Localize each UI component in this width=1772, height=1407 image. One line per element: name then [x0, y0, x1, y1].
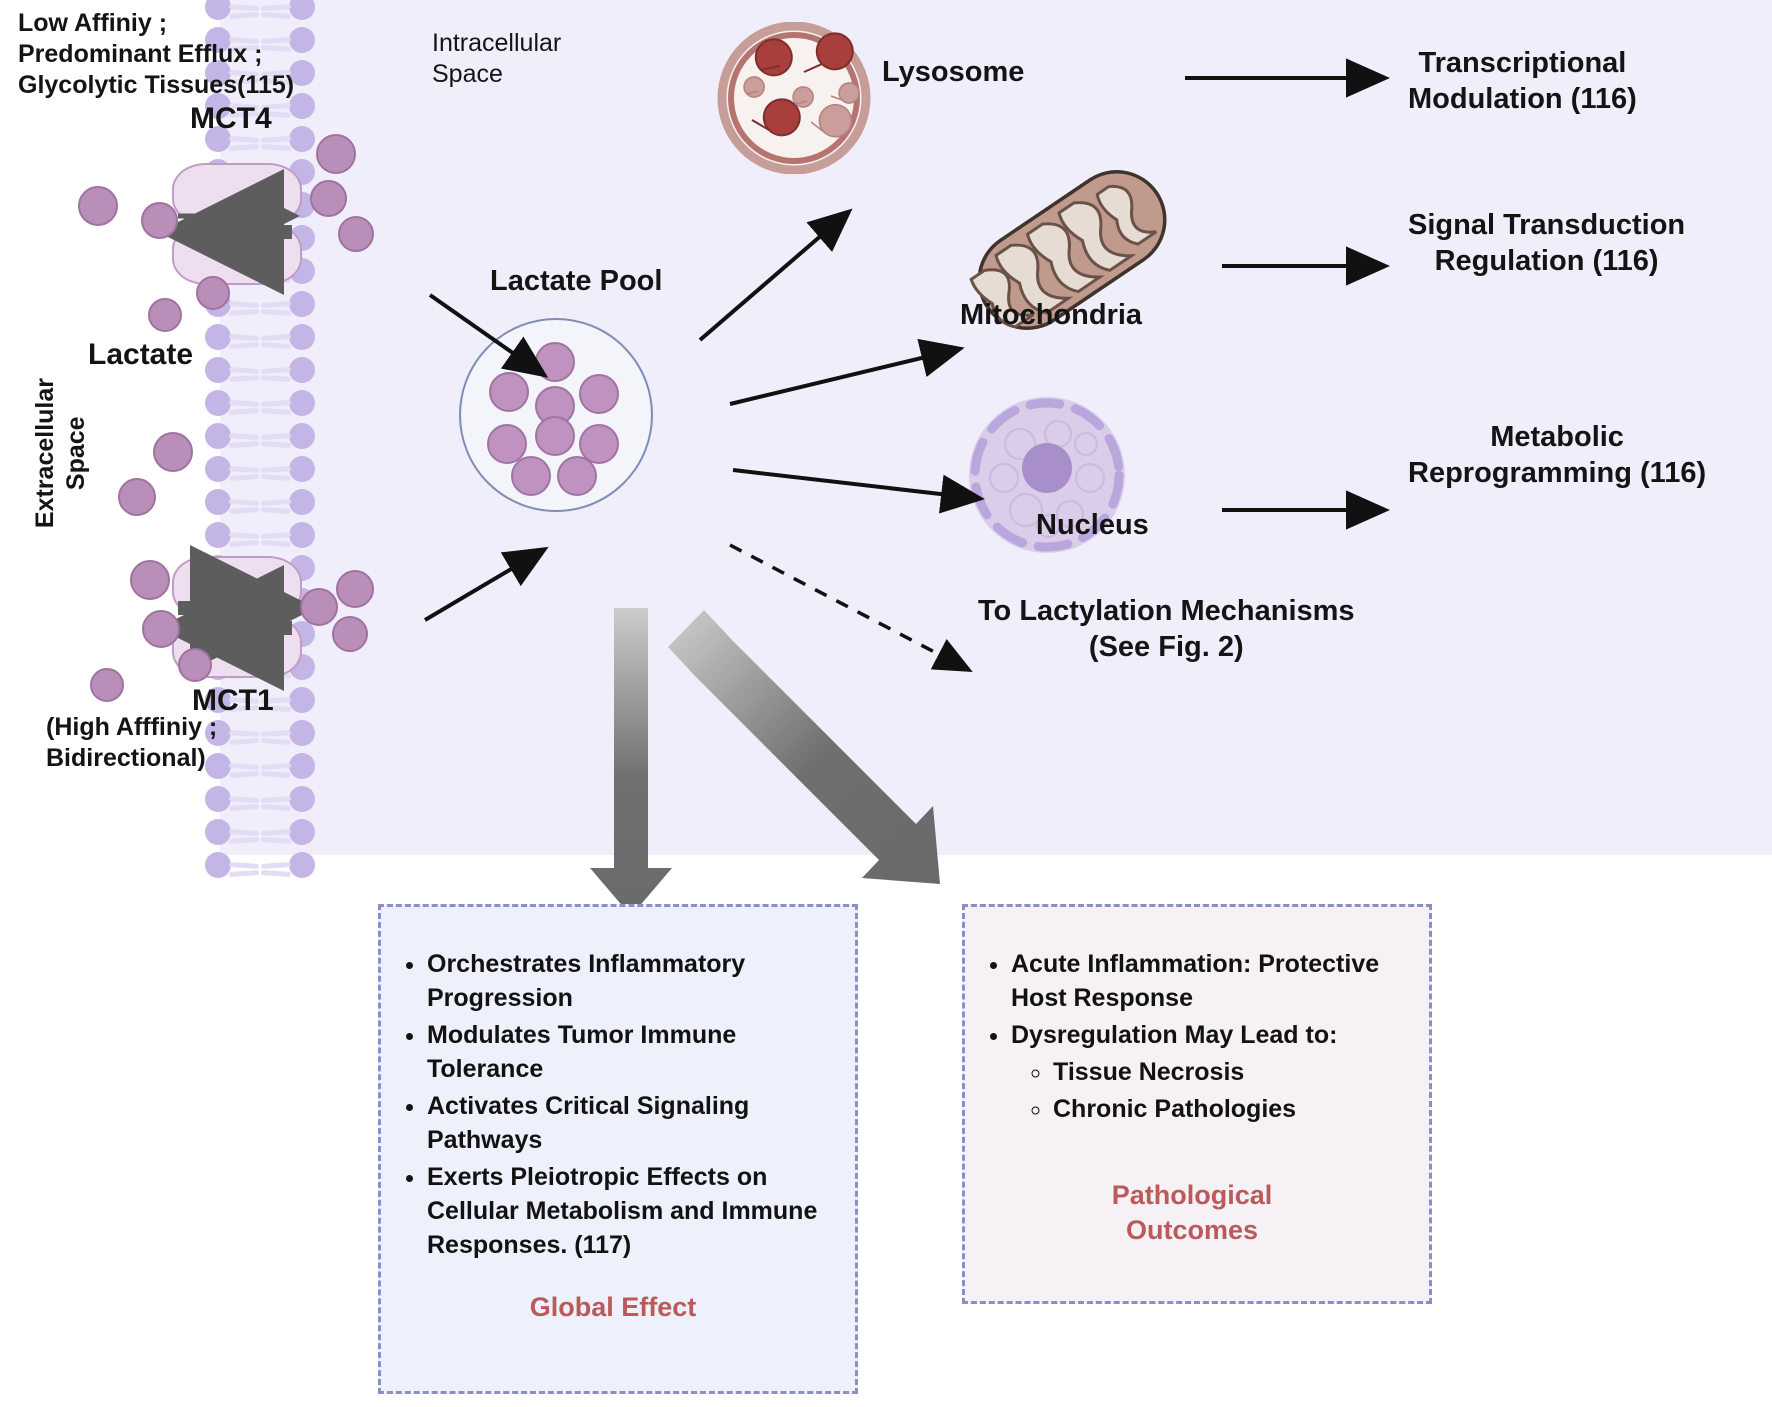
phospholipid-tail: [261, 540, 291, 547]
phospholipid-tail: [229, 408, 259, 415]
phospholipid-tail: [229, 730, 259, 737]
lactate-molecule: [118, 478, 156, 516]
bullet-item: Modulates Tumor Immune Tolerance: [427, 1018, 833, 1086]
bullet-item: Acute Inflammation: Protective Host Resp…: [1011, 947, 1407, 1015]
phospholipid-tail: [261, 301, 291, 308]
phospholipid-tail: [229, 144, 259, 151]
outcome-signal-transduction: Signal TransductionRegulation (116): [1408, 208, 1685, 280]
phospholipid-tail: [261, 738, 291, 745]
phospholipid-head: [289, 126, 315, 152]
bullet-item: Orchestrates Inflammatory Progression: [427, 947, 833, 1015]
bullet-item: Activates Critical Signaling Pathways: [427, 1089, 833, 1157]
pool-lactate-dot: [511, 456, 551, 496]
lactate-molecule: [153, 432, 193, 472]
sub-bullet-list: Tissue NecrosisChronic Pathologies: [1011, 1055, 1407, 1126]
lactate-pool-label: Lactate Pool: [490, 264, 662, 300]
phospholipid-head: [205, 489, 231, 515]
lactate-pool[interactable]: [459, 318, 653, 512]
pool-lactate-dot: [579, 374, 619, 414]
extracellular-space-label: ExtracellularSpace: [30, 378, 92, 528]
phospholipid-tail: [261, 499, 291, 506]
lactate-label: Lactate: [88, 336, 193, 373]
pool-lactate-dot: [557, 456, 597, 496]
phospholipid-head: [205, 357, 231, 383]
phospholipid-head: [289, 423, 315, 449]
phospholipid-tail: [261, 771, 291, 778]
phospholipid-tail: [229, 771, 259, 778]
phospholipid-tail: [261, 408, 291, 415]
mct4-label: MCT4: [190, 100, 272, 137]
phospholipid-head: [205, 324, 231, 350]
phospholipid-head: [205, 390, 231, 416]
phospholipid-tail: [229, 433, 259, 440]
phospholipid-tail: [229, 309, 259, 316]
phospholipid-tail: [261, 309, 291, 316]
lactate-molecule: [141, 202, 178, 239]
lactate-molecule: [178, 648, 212, 682]
sub-bullet-item: Chronic Pathologies: [1053, 1092, 1407, 1126]
phospholipid-tail: [261, 400, 291, 407]
phospholipid-head: [289, 753, 315, 779]
phospholipid-tail: [229, 862, 259, 869]
pool-lactate-dot: [489, 372, 529, 412]
phospholipid-head: [205, 423, 231, 449]
nucleus-label: Nucleus: [1036, 508, 1149, 544]
lysosome-label: Lysosome: [882, 55, 1024, 91]
figure-canvas: Low Affiniy ;Predominant Efflux ;Glycoly…: [0, 0, 1772, 1407]
phospholipid-tail: [229, 301, 259, 308]
lysosome-organelle[interactable]: [714, 22, 874, 174]
phospholipid-tail: [229, 532, 259, 539]
phospholipid-head: [289, 324, 315, 350]
lactate-molecule: [148, 298, 182, 332]
phospholipid-tail: [229, 837, 259, 844]
phospholipid-head: [289, 357, 315, 383]
phospholipid-tail: [229, 499, 259, 506]
lactate-molecule: [78, 186, 118, 226]
pathological-outcomes-box[interactable]: Acute Inflammation: Protective Host Resp…: [962, 904, 1432, 1304]
phospholipid-head: [289, 390, 315, 416]
phospholipid-tail: [261, 796, 291, 803]
lactate-molecule: [332, 616, 368, 652]
phospholipid-tail: [261, 829, 291, 836]
intracellular-space-label: IntracellularSpace: [432, 28, 561, 90]
phospholipid-tail: [261, 441, 291, 448]
phospholipid-head: [289, 522, 315, 548]
phospholipid-tail: [261, 375, 291, 382]
phospholipid-tail: [229, 367, 259, 374]
phospholipid-tail: [229, 334, 259, 341]
mct4-direction-arrows: [172, 163, 298, 281]
pool-lactate-dot: [535, 342, 575, 382]
global-effect-box[interactable]: Orchestrates Inflammatory ProgressionMod…: [378, 904, 858, 1394]
mct1-note: (High Afffiniy ;Bidirectional): [46, 712, 217, 774]
phospholipid-head: [205, 819, 231, 845]
phospholipid-tail: [261, 144, 291, 151]
lactate-molecule: [338, 216, 374, 252]
phospholipid-tail: [261, 367, 291, 374]
pathological-outcomes-bullet-list: Acute Inflammation: Protective Host Resp…: [977, 947, 1407, 1126]
phospholipid-tail: [229, 540, 259, 547]
phospholipid-tail: [229, 466, 259, 473]
pathological-outcomes-title: PathologicalOutcomes: [977, 1178, 1407, 1248]
phospholipid-head: [289, 456, 315, 482]
mct4-transporter[interactable]: [172, 163, 298, 281]
phospholipid-tail: [261, 804, 291, 811]
phospholipid-tail: [261, 837, 291, 844]
phospholipid-head: [205, 456, 231, 482]
phospholipid-tail: [229, 829, 259, 836]
phospholipid-head: [289, 291, 315, 317]
lactylation-note: To Lactylation Mechanisms(See Fig. 2): [978, 594, 1355, 666]
global-effect-title: Global Effect: [393, 1290, 833, 1325]
phospholipid-tail: [261, 342, 291, 349]
outcome-metabolic-reprogramming: MetabolicReprogramming (116): [1408, 420, 1706, 492]
phospholipid-head: [205, 786, 231, 812]
phospholipid-tail: [261, 466, 291, 473]
lactate-molecule: [142, 610, 180, 648]
bullet-item: Dysregulation May Lead to:Tissue Necrosi…: [1011, 1018, 1407, 1126]
phospholipid-tail: [261, 763, 291, 770]
phospholipid-tail: [261, 507, 291, 514]
phospholipid-tail: [229, 763, 259, 770]
mitochondria-label: Mitochondria: [960, 298, 1142, 334]
phospholipid-tail: [229, 796, 259, 803]
phospholipid-tail: [229, 400, 259, 407]
phospholipid-tail: [261, 474, 291, 481]
lactate-molecule: [130, 560, 170, 600]
phospholipid-head: [289, 489, 315, 515]
phospholipid-tail: [261, 730, 291, 737]
pool-lactate-dot: [535, 416, 575, 456]
phospholipid-tail: [229, 804, 259, 811]
lactate-molecule: [336, 570, 374, 608]
phospholipid-head: [289, 819, 315, 845]
phospholipid-tail: [261, 334, 291, 341]
phospholipid-tail: [229, 342, 259, 349]
phospholipid-tail: [261, 433, 291, 440]
lactate-molecule: [316, 134, 356, 174]
lactate-molecule: [310, 180, 347, 217]
phospholipid-tail: [229, 375, 259, 382]
phospholipid-head: [205, 852, 231, 878]
global-effect-bullet-list: Orchestrates Inflammatory ProgressionMod…: [393, 947, 833, 1262]
lactate-molecule: [300, 588, 338, 626]
phospholipid-head: [289, 720, 315, 746]
phospholipid-tail: [229, 870, 259, 877]
lactate-molecule: [90, 668, 124, 702]
phospholipid-head: [289, 786, 315, 812]
bullet-item: Exerts Pleiotropic Effects on Cellular M…: [427, 1160, 833, 1262]
phospholipid-tail: [261, 870, 291, 877]
phospholipid-tail: [229, 738, 259, 745]
phospholipid-tail: [261, 862, 291, 869]
mct4-note: Low Affiniy ;Predominant Efflux ;Glycoly…: [18, 8, 294, 101]
phospholipid-tail: [229, 507, 259, 514]
phospholipid-tail: [261, 532, 291, 539]
phospholipid-head: [289, 852, 315, 878]
lactate-molecule: [196, 276, 230, 310]
phospholipid-head: [205, 522, 231, 548]
outcome-transcriptional-modulation: TranscriptionalModulation (116): [1408, 46, 1637, 118]
phospholipid-tail: [229, 441, 259, 448]
phospholipid-tail: [229, 474, 259, 481]
sub-bullet-item: Tissue Necrosis: [1053, 1055, 1407, 1089]
phospholipid-head: [289, 687, 315, 713]
